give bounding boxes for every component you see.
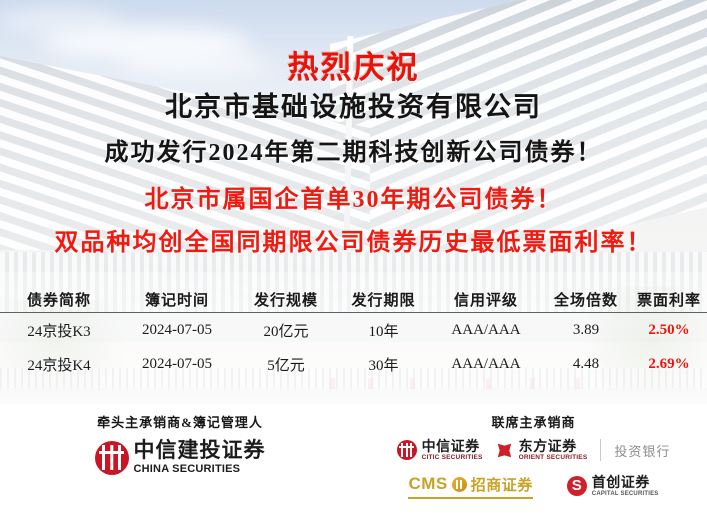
joint-underwriter-logo-row-1: 中信证券 CITIC SECURITIES 东方证券 ORIENT SECURI… <box>360 439 707 462</box>
citic-emblem-icon <box>95 441 129 475</box>
logo-name-cn: 首创证券 <box>592 475 659 489</box>
cell-tenor: 30年 <box>336 347 431 381</box>
bond-details-table: 债券简称 簿记时间 发行规模 发行期限 信用评级 全场倍数 票面利率 24京投K… <box>0 286 707 381</box>
cell-bond-name: 24京投K4 <box>0 347 118 381</box>
logo-name-cn: 东方证券 <box>519 439 588 453</box>
footer-underwriters: 牵头主承销商&簿记管理人 中信建投证券 CHINA SECURITIES <box>0 404 707 518</box>
bond-issuance-poster: 热烈庆祝 北京市基础设施投资有限公司 成功发行2024年第二期科技创新公司债券！… <box>0 0 707 518</box>
joint-underwriters-block: 联席主承销商 中信证券 CITIC SECURITIES <box>360 404 707 499</box>
column-header-subscription-multiple: 全场倍数 <box>541 286 631 313</box>
cell-subscription-multiple: 4.48 <box>541 347 631 381</box>
column-header-coupon-rate: 票面利率 <box>631 286 707 313</box>
headline-lowest-rate: 双品种均创全国同期限公司债券历史最低票面利率！ <box>0 231 707 255</box>
logo-abbr-cms: CMS <box>408 474 447 494</box>
cell-book-date: 2024-07-05 <box>118 347 236 381</box>
logo-capital-securities: 首创证券 CAPITAL SECURITIES <box>567 475 659 497</box>
column-header-bond-name: 债券简称 <box>0 286 118 313</box>
cell-book-date: 2024-07-05 <box>118 313 236 348</box>
lead-underwriter-block: 牵头主承销商&簿记管理人 中信建投证券 CHINA SECURITIES <box>0 404 360 475</box>
column-header-credit-rating: 信用评级 <box>431 286 541 313</box>
logo-name-en: ORIENT SECURITIES <box>519 455 588 462</box>
headline-issue-statement: 成功发行2024年第二期科技创新公司债券！ <box>0 141 707 165</box>
logo-name-en: CAPITAL SECURITIES <box>592 491 659 497</box>
orient-diamond-icon <box>495 441 514 460</box>
lead-underwriter-title: 牵头主承销商&簿记管理人 <box>0 404 360 431</box>
cms-badge-icon <box>452 477 467 492</box>
capital-s-icon <box>567 476 587 496</box>
cell-tenor: 10年 <box>336 313 431 348</box>
logo-orient-securities: 东方证券 ORIENT SECURITIES 投资银行 <box>495 439 671 462</box>
logo-subtitle-investment-banking: 投资银行 <box>614 441 670 460</box>
cell-credit-rating: AAA/AAA <box>431 347 541 381</box>
cell-issue-size: 5亿元 <box>236 347 336 381</box>
logo-name-en: CITIC SECURITIES <box>422 455 483 462</box>
joint-underwriter-logo-row-2: CMS 招商证券 首创证券 CAPITAL SECURITIES <box>360 474 707 499</box>
logo-name-cn: 中信证券 <box>422 439 483 453</box>
table-row: 24京投K3 2024-07-05 20亿元 10年 AAA/AAA 3.89 … <box>0 313 707 348</box>
logo-cms-securities: CMS 招商证券 <box>408 474 532 499</box>
table-header-row: 债券简称 簿记时间 发行规模 发行期限 信用评级 全场倍数 票面利率 <box>0 286 707 313</box>
logo-divider <box>600 439 601 461</box>
cell-subscription-multiple: 3.89 <box>541 313 631 348</box>
logo-china-securities: 中信建投证券 CHINA SECURITIES <box>0 440 360 475</box>
cell-issue-size: 20亿元 <box>236 313 336 348</box>
joint-underwriters-title: 联席主承销商 <box>360 404 707 431</box>
column-header-issue-size: 发行规模 <box>236 286 336 313</box>
cell-bond-name: 24京投K3 <box>0 313 118 348</box>
headline-first-of-kind: 北京市属国企首单30年期公司债券！ <box>0 188 707 212</box>
cell-coupon-rate: 2.69% <box>631 347 707 381</box>
logo-name-cn: 招商证券 <box>471 474 533 495</box>
logo-citic-securities: 中信证券 CITIC SECURITIES <box>397 439 483 462</box>
headline-celebrate: 热烈庆祝 <box>0 52 707 83</box>
cell-credit-rating: AAA/AAA <box>431 313 541 348</box>
table-row: 24京投K4 2024-07-05 5亿元 30年 AAA/AAA 4.48 2… <box>0 347 707 381</box>
cell-coupon-rate: 2.50% <box>631 313 707 348</box>
logo-name-en: CHINA SECURITIES <box>134 464 266 475</box>
logo-name-cn: 中信建投证券 <box>134 440 266 461</box>
headline-company-name: 北京市基础设施投资有限公司 <box>0 94 707 121</box>
citic-emblem-icon <box>397 440 417 460</box>
column-header-tenor: 发行期限 <box>336 286 431 313</box>
column-header-book-date: 簿记时间 <box>118 286 236 313</box>
